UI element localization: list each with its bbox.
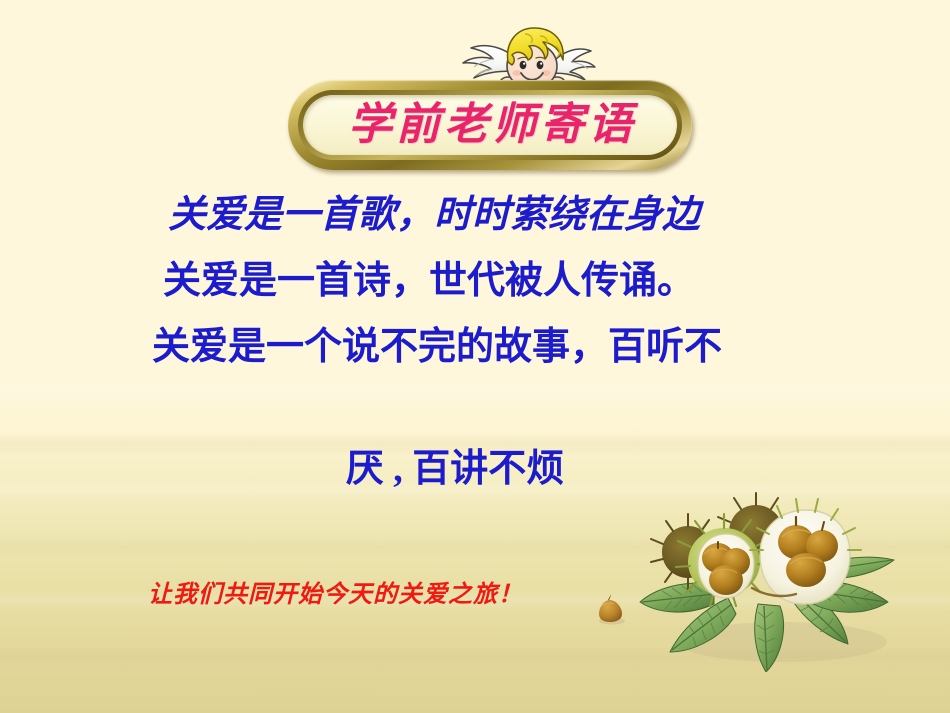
poem-line-2: 关爱是一首诗，世代被人传诵。 — [163, 262, 950, 300]
single-chestnut-icon — [592, 592, 628, 626]
poem-body: 关爱是一首歌，时时萦绕在身边 关爱是一首诗，世代被人传诵。 关爱是一个说不完的故… — [0, 196, 950, 488]
banner-outer-frame: 学前老师寄语 — [288, 80, 692, 170]
poem-line-3: 关爱是一个说不完的故事，百听不 — [152, 328, 950, 366]
title-banner: 学前老师寄语 — [288, 80, 692, 170]
banner-inner-frame: 学前老师寄语 — [298, 90, 682, 160]
page-title: 学前老师寄语 — [344, 103, 636, 147]
banner-plate: 学前老师寄语 — [303, 95, 677, 155]
angel-cherub-icon — [445, 22, 597, 88]
poem-line-4: 厌 , 百讲不烦 — [0, 450, 950, 488]
footer-call-to-action: 让我们共同开始今天的关爱之旅！ — [148, 583, 523, 607]
poem-line-1: 关爱是一首歌，时时萦绕在身边 — [168, 196, 950, 234]
chestnut-cluster-icon — [632, 492, 932, 672]
presentation-slide: 学前老师寄语 关爱是一首歌，时时萦绕在身边 关爱是一首诗，世代被人传诵。 关爱是… — [0, 0, 950, 713]
